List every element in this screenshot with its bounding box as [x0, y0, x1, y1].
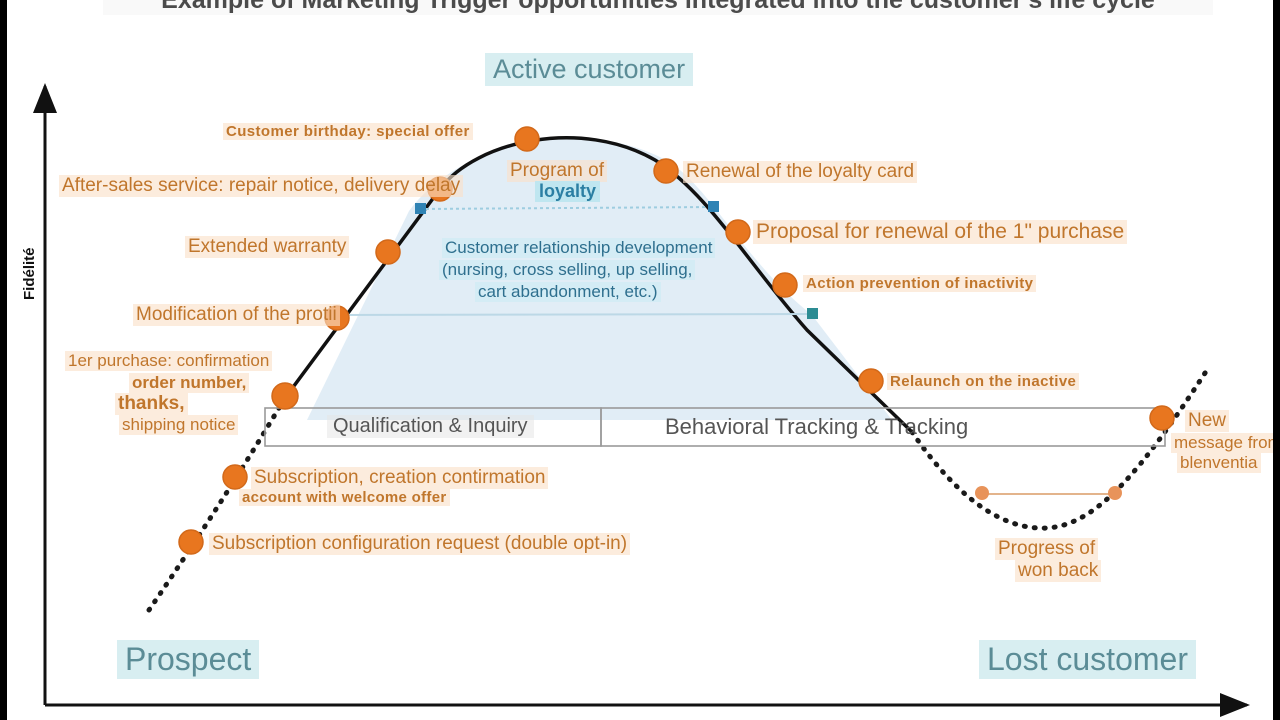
trigger-label-subscription-1: Subscription, creation contirmation — [251, 467, 548, 489]
trigger-label-welcome-3: blenventia — [1177, 453, 1261, 473]
marker-inactivity — [773, 273, 797, 297]
trigger-label-welcome-2: message from — [1171, 433, 1280, 453]
trigger-label-first-purchase-2: order number, — [129, 373, 249, 393]
connector-node-2 — [708, 201, 719, 212]
trigger-label-first-purchase-3: thanks, — [115, 393, 188, 415]
connector-node-4 — [807, 308, 818, 319]
winback-dot-right — [1108, 486, 1122, 500]
trigger-label-first-purchase-1: 1er purchase: confirmation — [65, 351, 272, 371]
marker-warranty — [376, 240, 400, 264]
trigger-label-birthday: Customer birthday: special offer — [223, 123, 473, 140]
trigger-label-renewal: Proposal for renewal of the 1" purchase — [753, 220, 1127, 244]
trigger-label-won-back-2: won back — [1015, 560, 1101, 582]
marker-birthday — [515, 127, 539, 151]
trigger-label-welcome-1: New — [1185, 410, 1229, 432]
marker-subscription — [223, 465, 247, 489]
phase-label-prospect: Prospect — [117, 640, 259, 679]
connector-node-1 — [415, 203, 426, 214]
note-program-of: Program of — [507, 160, 607, 182]
note-crd-line3: cart abandonment, etc.) — [475, 282, 661, 302]
note-crd-line1: Customer relationship development — [442, 238, 715, 258]
trigger-label-inactivity: Action prevention of inactivity — [803, 275, 1036, 292]
note-crd-line2: (nursing, cross selling, up selling, — [439, 260, 695, 280]
marker-welcome — [1150, 406, 1174, 430]
trigger-label-won-back-1: Progress of — [995, 538, 1098, 560]
trigger-label-warranty: Extended warranty — [185, 236, 349, 258]
trigger-label-double-optin: Subscription configuration request (doub… — [209, 533, 630, 555]
trigger-label-profile: Modification of the protii — [133, 304, 340, 326]
marker-first-purchase — [272, 383, 298, 409]
phase-label-active: Active customer — [485, 53, 693, 86]
trigger-label-relaunch: Relaunch on the inactive — [887, 373, 1079, 390]
y-axis-label: Fidélité — [21, 247, 38, 300]
marker-loyalty-card — [654, 159, 678, 183]
connector-lower — [337, 314, 813, 315]
marker-renewal — [726, 220, 750, 244]
marker-relaunch — [859, 369, 883, 393]
note-loyalty: loyalty — [535, 181, 600, 202]
trigger-label-subscription-2: account with welcome offer — [239, 489, 450, 506]
winback-curve — [912, 370, 1207, 528]
trigger-label-first-purchase-4: shipping notice — [119, 415, 238, 435]
phase-label-lost: Lost customer — [979, 640, 1196, 679]
stage-box-label-qualification: Qualification & Inquiry — [327, 415, 534, 438]
slide-canvas: Example of Marketing Trigger opportuniti… — [0, 0, 1280, 720]
trigger-label-loyalty-card: Renewal of the loyalty card — [683, 161, 917, 183]
stage-box-label-behavioral: Behavioral Tracking & Tracking — [659, 414, 974, 439]
winback-dot-left — [975, 486, 989, 500]
trigger-label-after-sales: After-sales service: repair notice, deli… — [59, 175, 463, 197]
marker-double-optin — [179, 530, 203, 554]
